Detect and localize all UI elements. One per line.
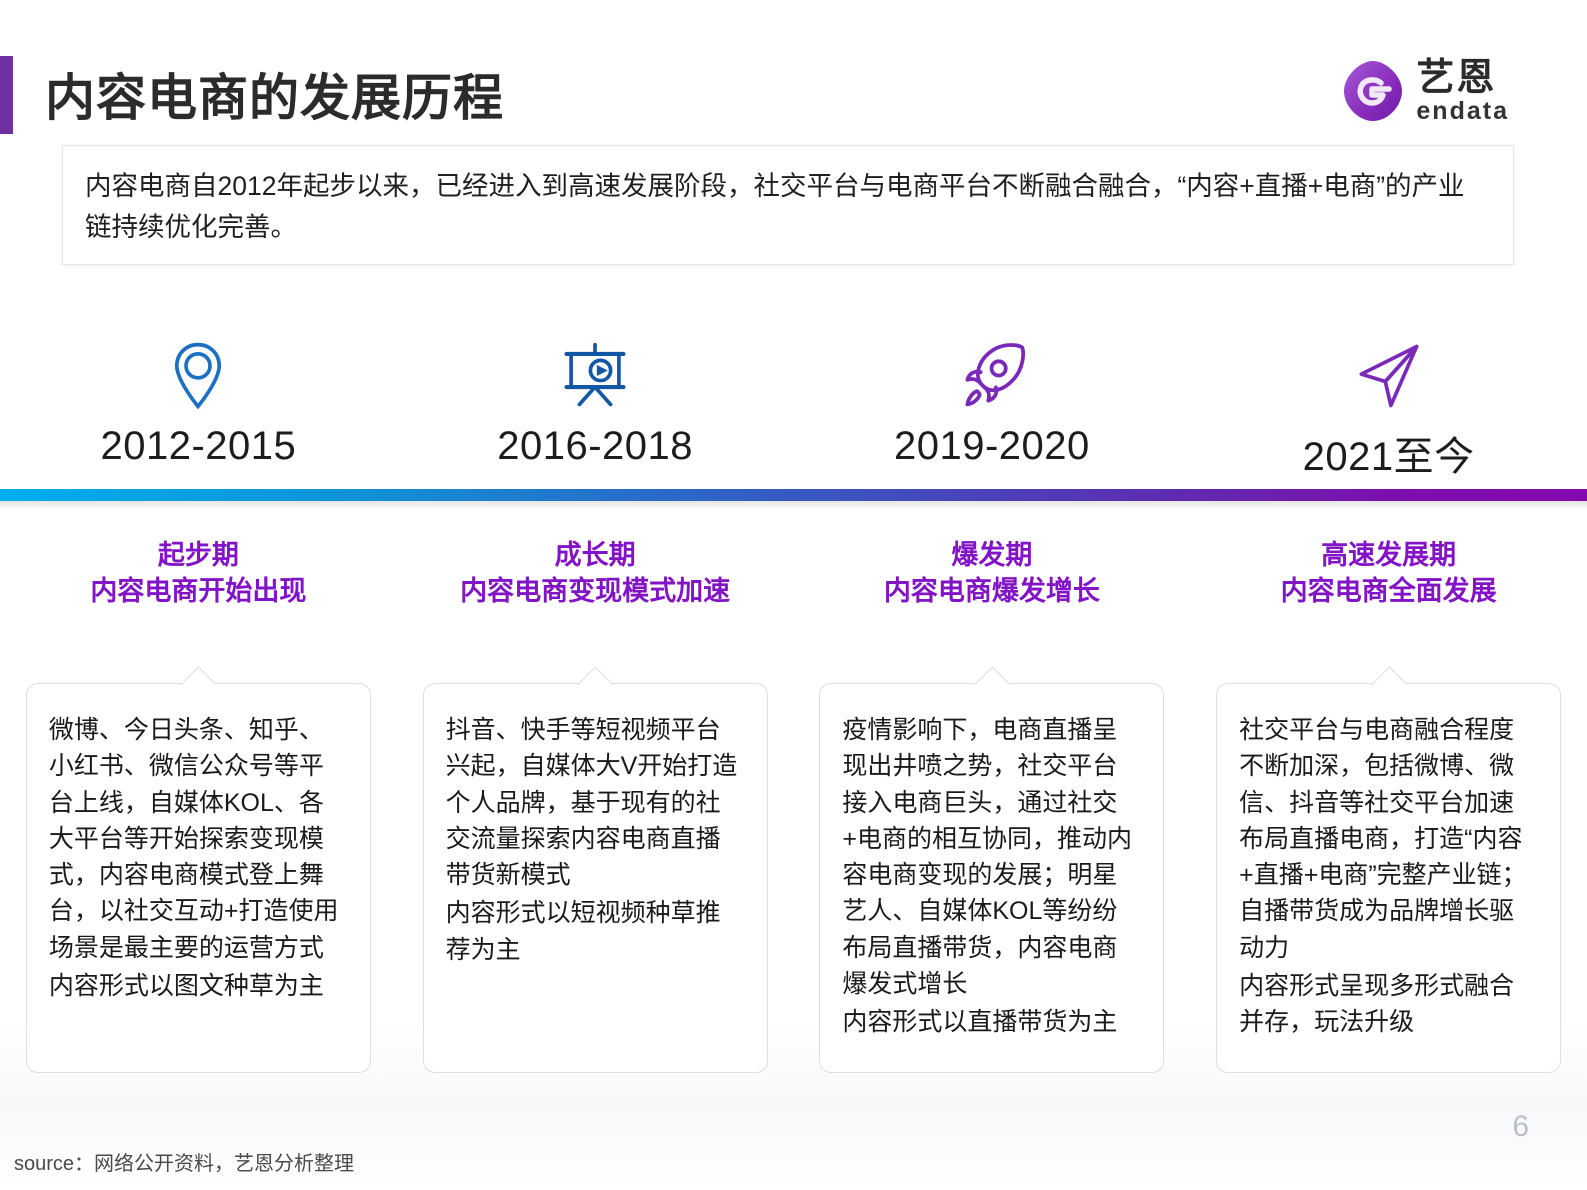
- brand-logo: 艺恩 endata: [1340, 58, 1509, 124]
- stage-headings: 起步期 内容电商开始出现 成长期 内容电商变现模式加速 爆发期 内容电商爆发增长…: [0, 538, 1587, 609]
- stage-card-col-1: 微博、今日头条、知乎、小红书、微信公众号等平台上线，自媒体KOL、各大平台等开始…: [0, 650, 397, 1073]
- timeline-label-1: 2012-2015: [100, 424, 296, 469]
- stage-cards: 微博、今日头条、知乎、小红书、微信公众号等平台上线，自媒体KOL、各大平台等开始…: [0, 650, 1587, 1073]
- presentation-play-icon: [561, 340, 629, 412]
- stage-card-4: 社交平台与电商融合程度不断加深，包括微博、微信、抖音等社交平台加速布局直播电商，…: [1216, 683, 1561, 1073]
- stage-heading-4: 高速发展期 内容电商全面发展: [1190, 538, 1587, 609]
- source-note: source：网络公开资料，艺恩分析整理: [14, 1147, 354, 1176]
- intro-box: 内容电商自2012年起步以来，已经进入到高速发展阶段，社交平台与电商平台不断融合…: [62, 145, 1514, 265]
- page-title: 内容电商的发展历程: [45, 58, 504, 130]
- endata-logo-mark-icon: [1340, 58, 1406, 124]
- timeline-label-2: 2016-2018: [497, 424, 693, 469]
- logo-text-en: endata: [1416, 99, 1509, 124]
- card-pointer-1: [180, 666, 216, 685]
- stage-card-4-paragraph-1: 社交平台与电商融合程度不断加深，包括微博、微信、抖音等社交平台加速布局直播电商，…: [1239, 712, 1538, 966]
- stage-card-3: 疫情影响下，电商直播呈现出井喷之势，社交平台接入电商巨头，通过社交+电商的相互协…: [819, 683, 1164, 1073]
- stage-heading-3-line2: 内容电商爆发增长: [794, 574, 1191, 610]
- timeline-marker-4: 2021至今: [1190, 340, 1587, 485]
- card-pointer-4: [1371, 666, 1407, 685]
- title-accent-bar: [0, 56, 13, 134]
- stage-heading-3-line1: 爆发期: [794, 538, 1191, 574]
- timeline-marker-2: 2016-2018: [397, 340, 794, 485]
- stage-heading-2: 成长期 内容电商变现模式加速: [397, 538, 794, 609]
- logo-wordmark: 艺恩 endata: [1416, 59, 1509, 124]
- stage-card-4-body: 社交平台与电商融合程度不断加深，包括微博、微信、抖音等社交平台加速布局直播电商，…: [1239, 712, 1538, 1040]
- stage-heading-3: 爆发期 内容电商爆发增长: [794, 538, 1191, 609]
- timeline-markers: 2012-2015 2016-2018: [0, 340, 1587, 485]
- stage-card-1-paragraph-2: 内容形式以图文种草为主: [49, 968, 348, 1004]
- card-pointer-3: [974, 666, 1010, 685]
- location-pin-icon: [170, 340, 226, 412]
- page-number: 6: [1512, 1110, 1529, 1144]
- stage-card-col-2: 抖音、快手等短视频平台兴起，自媒体大V开始打造个人品牌，基于现有的社交流量探索内…: [397, 650, 794, 1073]
- stage-heading-2-line1: 成长期: [397, 538, 794, 574]
- stage-card-1-body: 微博、今日头条、知乎、小红书、微信公众号等平台上线，自媒体KOL、各大平台等开始…: [49, 712, 348, 1004]
- rocket-icon: [956, 340, 1028, 412]
- card-pointer-2: [577, 666, 613, 685]
- stage-heading-2-line2: 内容电商变现模式加速: [397, 574, 794, 610]
- stage-card-3-paragraph-2: 内容形式以直播带货为主: [842, 1004, 1141, 1040]
- timeline-marker-3: 2019-2020: [794, 340, 1191, 485]
- gradient-divider: [0, 489, 1587, 501]
- slide: 内容电商的发展历程 艺恩 endata 内容电商自2012年起步以来，已经进入: [0, 0, 1587, 1190]
- stage-card-3-body: 疫情影响下，电商直播呈现出井喷之势，社交平台接入电商巨头，通过社交+电商的相互协…: [842, 712, 1141, 1040]
- stage-heading-1: 起步期 内容电商开始出现: [0, 538, 397, 609]
- logo-text-cn: 艺恩: [1416, 59, 1496, 97]
- stage-card-2-paragraph-1: 抖音、快手等短视频平台兴起，自媒体大V开始打造个人品牌，基于现有的社交流量探索内…: [446, 712, 745, 893]
- stage-heading-1-line1: 起步期: [0, 538, 397, 574]
- stage-card-2: 抖音、快手等短视频平台兴起，自媒体大V开始打造个人品牌，基于现有的社交流量探索内…: [423, 683, 768, 1073]
- timeline-label-3: 2019-2020: [894, 424, 1090, 469]
- stage-card-4-paragraph-2: 内容形式呈现多形式融合并存，玩法升级: [1239, 968, 1538, 1041]
- stage-heading-4-line2: 内容电商全面发展: [1190, 574, 1587, 610]
- intro-text: 内容电商自2012年起步以来，已经进入到高速发展阶段，社交平台与电商平台不断融合…: [85, 166, 1491, 248]
- stage-card-col-3: 疫情影响下，电商直播呈现出井喷之势，社交平台接入电商巨头，通过社交+电商的相互协…: [794, 650, 1191, 1073]
- stage-card-1: 微博、今日头条、知乎、小红书、微信公众号等平台上线，自媒体KOL、各大平台等开始…: [26, 683, 371, 1073]
- stage-card-col-4: 社交平台与电商融合程度不断加深，包括微博、微信、抖音等社交平台加速布局直播电商，…: [1190, 650, 1587, 1073]
- stage-card-2-paragraph-2: 内容形式以短视频种草推荐为主: [446, 895, 745, 968]
- stage-card-3-paragraph-1: 疫情影响下，电商直播呈现出井喷之势，社交平台接入电商巨头，通过社交+电商的相互协…: [842, 712, 1141, 1002]
- stage-heading-4-line1: 高速发展期: [1190, 538, 1587, 574]
- timeline-marker-1: 2012-2015: [0, 340, 397, 485]
- timeline-label-4: 2021至今: [1303, 424, 1475, 482]
- stage-card-2-body: 抖音、快手等短视频平台兴起，自媒体大V开始打造个人品牌，基于现有的社交流量探索内…: [446, 712, 745, 968]
- divider-shadow: [0, 501, 1587, 510]
- paper-plane-icon: [1354, 340, 1424, 412]
- stage-heading-1-line2: 内容电商开始出现: [0, 574, 397, 610]
- stage-card-1-paragraph-1: 微博、今日头条、知乎、小红书、微信公众号等平台上线，自媒体KOL、各大平台等开始…: [49, 712, 348, 966]
